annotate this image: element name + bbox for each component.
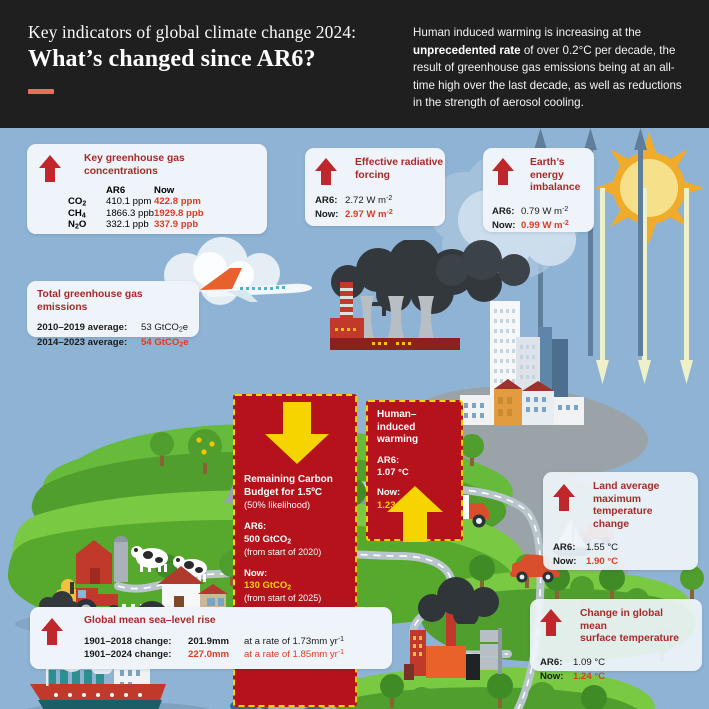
total-emissions-row1: 2010–2019 average:53 GtCO2e — [37, 321, 189, 336]
human-warming-ar6-value: 1.07 °C — [377, 467, 454, 480]
gmst-now-value: 1.24 °C — [573, 671, 605, 682]
gmst-ar6-label: AR6: — [540, 656, 573, 670]
ghg-row-n2o-now: 337.9 ppb — [154, 219, 204, 231]
gmst-title-line1: Change in global mean — [580, 608, 692, 633]
carbon-budget-ar6-label: AR6: — [244, 521, 347, 534]
land-max-temp-title-line2: maximum — [593, 494, 688, 507]
sea-level-rise-row1-rate-sup: -1 — [338, 636, 344, 643]
sea-level-rise-row1: 1901–2018 change:201.9mmat a rate of 1.7… — [84, 635, 382, 649]
ghg-concentrations-panel: Key greenhouse gas concentrations AR6 No… — [27, 144, 267, 234]
radiative-forcing-now-value: 2.97 W m — [345, 209, 387, 220]
human-warming-title-line1: Human–induced — [377, 409, 454, 434]
carbon-budget-now-note: (from start of 2025) — [244, 593, 347, 605]
land-max-temp-ar6-label: AR6: — [553, 541, 586, 555]
energy-imbalance-now-value: 0.99 W m — [521, 220, 563, 231]
ghg-row-co2-ar6: 410.1 ppm — [106, 196, 154, 208]
carbon-budget-now-value: 130 GtCO2 — [244, 580, 347, 593]
carbon-budget-ar6-subscript: 2 — [287, 538, 291, 545]
carbon-budget-ar6-note: (from start of 2020) — [244, 547, 347, 559]
ghg-row-n2o-label: N2O — [68, 219, 106, 231]
carbon-budget-now-subscript: 2 — [287, 585, 291, 592]
total-emissions-title: Total greenhouse gas emissions — [37, 289, 189, 314]
sea-level-rise-row2-change: 227.0mm — [188, 648, 244, 662]
land-max-temp-ar6-value: 1.55 °C — [586, 542, 618, 553]
gmst-ar6-value: 1.09 °C — [573, 657, 605, 668]
intro-text-part1: Human induced warming is increasing at t… — [413, 26, 641, 39]
illustration-scene: Remaining Carbon Budget for 1.5ºC (50% l… — [0, 128, 709, 709]
infographic-page: Key indicators of global climate change … — [0, 0, 709, 709]
ghg-co2-sub: 2 — [82, 201, 86, 208]
up-arrow-icon — [553, 484, 575, 511]
gmst-ar6-row: AR6:1.09 °C — [540, 656, 692, 670]
global-mean-surface-temp-title: Change in global mean surface temperatur… — [580, 608, 692, 646]
ghg-ch4-text: CH — [68, 208, 82, 219]
radiative-forcing-ar6-row: AR6:2.72 W m-2 — [315, 194, 435, 208]
ghg-row-co2-now: 422.8 ppm — [154, 196, 204, 208]
ghg-row-ch4-ar6: 1866.3 ppb — [106, 208, 154, 220]
radiative-forcing-now-label: Now: — [315, 208, 345, 222]
land-max-temp-title-line4: change — [593, 519, 688, 532]
land-max-temp-now-row: Now:1.90 °C — [553, 555, 688, 569]
ghg-row-co2-label: CO2 — [68, 196, 106, 208]
total-emissions-row2: 2014–2023 average:54 GtCO2e — [37, 336, 189, 351]
carbon-budget-title-line1: Remaining Carbon — [244, 474, 347, 487]
sea-level-rise-title: Global mean sea–level rise — [84, 615, 382, 628]
ghg-row-n2o-ar6: 332.1 ppb — [106, 219, 154, 231]
energy-imbalance-ar6-sup: -2 — [562, 206, 568, 213]
carbon-budget-now-value-text: 130 GtCO — [244, 580, 287, 591]
down-arrow-icon — [265, 402, 329, 464]
radiative-forcing-panel: Effective radiative forcing AR6:2.72 W m… — [305, 148, 445, 226]
energy-imbalance-panel: Earth’s energy imbalance AR6:0.79 W m-2 … — [483, 148, 594, 232]
sea-level-rise-row2-label: 1901–2024 change: — [84, 648, 188, 662]
gmst-now-label: Now: — [540, 670, 573, 684]
carbon-budget-ar6-value: 500 GtCO2 — [244, 534, 347, 547]
ghg-ch4-sub: 4 — [82, 212, 86, 219]
sea-level-rise-row2: 1901–2024 change:227.0mmat a rate of 1.8… — [84, 648, 382, 662]
land-max-temp-title-line3: temperature — [593, 506, 688, 519]
table-row: CH4 1866.3 ppb 1929.8 ppb — [68, 208, 204, 220]
land-max-temp-now-label: Now: — [553, 555, 586, 569]
energy-imbalance-now-row: Now:0.99 W m-2 — [492, 219, 585, 233]
up-arrow-icon — [492, 158, 514, 185]
carbon-budget-ar6-value-text: 500 GtCO — [244, 534, 287, 545]
carbon-budget-title-line2: Budget for 1.5ºC — [244, 487, 347, 500]
sea-level-rise-panel: Global mean sea–level rise 1901–2018 cha… — [30, 607, 392, 669]
up-arrow-icon — [39, 155, 61, 182]
land-max-temp-now-value: 1.90 °C — [586, 556, 618, 567]
ghg-n2o-post: O — [79, 219, 86, 230]
total-emissions-row1-value: 53 GtCO — [141, 322, 179, 333]
up-arrow-icon-large — [387, 486, 443, 542]
land-max-temp-title-line1: Land average — [593, 481, 688, 494]
total-emissions-panel: Total greenhouse gas emissions 2010–2019… — [27, 281, 199, 337]
radiative-forcing-ar6-sup: -2 — [386, 195, 392, 202]
table-row: N2O 332.1 ppb 337.9 ppb — [68, 219, 204, 231]
total-emissions-row2-value: 54 GtCO — [141, 337, 179, 348]
ghg-table-header-row: AR6 Now — [68, 185, 204, 196]
header-title-block: Key indicators of global climate change … — [28, 22, 398, 94]
energy-imbalance-ar6-label: AR6: — [492, 205, 521, 219]
radiative-forcing-ar6-value: 2.72 W m — [345, 195, 386, 206]
radiative-forcing-title: Effective radiative forcing — [355, 157, 447, 182]
ghg-co2-text: CO — [68, 196, 82, 207]
radiative-forcing-now-sup: -2 — [387, 209, 393, 216]
energy-imbalance-now-label: Now: — [492, 219, 521, 233]
total-emissions-row1-label: 2010–2019 average: — [37, 321, 141, 335]
header-accent-rule — [28, 89, 54, 94]
land-max-temp-ar6-row: AR6:1.55 °C — [553, 541, 688, 555]
page-title: What’s changed since AR6? — [28, 46, 398, 73]
radiative-forcing-now-row: Now:2.97 W m-2 — [315, 208, 435, 222]
sea-level-rise-row1-change: 201.9mm — [188, 635, 244, 649]
smoke-plume-factory — [410, 568, 510, 624]
up-arrow-icon — [315, 158, 337, 185]
table-row: CO2 410.1 ppm 422.8 ppm — [68, 196, 204, 208]
total-emissions-row2-label: 2014–2023 average: — [37, 336, 141, 350]
gmst-title-line2: surface temperature — [580, 633, 692, 646]
ghg-col-ar6: AR6 — [106, 185, 154, 196]
ghg-n2o-pre: N — [68, 219, 75, 230]
ghg-row-ch4-now: 1929.8 ppb — [154, 208, 204, 220]
gmst-now-row: Now:1.24 °C — [540, 670, 692, 684]
ghg-panel-title: Key greenhouse gas concentrations — [84, 153, 256, 178]
ghg-col-now: Now — [154, 185, 204, 196]
ghg-table: AR6 Now CO2 410.1 ppm 422.8 ppm CH4 1866… — [68, 185, 204, 231]
sea-level-rise-row1-rate: at a rate of 1.73mm yr — [244, 636, 338, 647]
energy-imbalance-title: Earth’s energy imbalance — [530, 157, 596, 195]
human-warming-ar6-label: AR6: — [377, 455, 454, 468]
sea-level-rise-row1-label: 1901–2018 change: — [84, 635, 188, 649]
land-max-temp-panel: Land average maximum temperature change … — [543, 472, 698, 570]
carbon-budget-subtitle: (50% likelihood) — [244, 499, 347, 511]
radiative-forcing-ar6-label: AR6: — [315, 194, 345, 208]
human-warming-title-line2: warming — [377, 434, 454, 447]
up-arrow-icon — [41, 618, 63, 645]
energy-imbalance-ar6-row: AR6:0.79 W m-2 — [492, 205, 585, 219]
carbon-budget-now-label: Now: — [244, 568, 347, 581]
land-max-temp-title: Land average maximum temperature change — [593, 481, 688, 531]
energy-imbalance-now-sup: -2 — [563, 220, 569, 227]
energy-imbalance-ar6-value: 0.79 W m — [521, 206, 562, 217]
sea-level-rise-row2-rate: at a rate of 1.85mm yr — [244, 649, 338, 660]
ghg-row-ch4-label: CH4 — [68, 208, 106, 220]
header-intro-text: Human induced warming is increasing at t… — [413, 24, 689, 112]
human-induced-warming-callout: Human–induced warming AR6: 1.07 °C Now: … — [366, 400, 463, 541]
total-emissions-row1-post: e — [183, 322, 188, 333]
sea-level-rise-row2-rate-sup: -1 — [338, 650, 344, 657]
total-emissions-row2-post: e — [183, 337, 188, 348]
up-arrow-icon — [540, 609, 562, 636]
header-bar: Key indicators of global climate change … — [0, 0, 709, 128]
intro-text-bold: unprecedented rate — [413, 44, 521, 57]
global-mean-surface-temp-panel: Change in global mean surface temperatur… — [530, 599, 702, 671]
header-kicker: Key indicators of global climate change … — [28, 22, 398, 42]
